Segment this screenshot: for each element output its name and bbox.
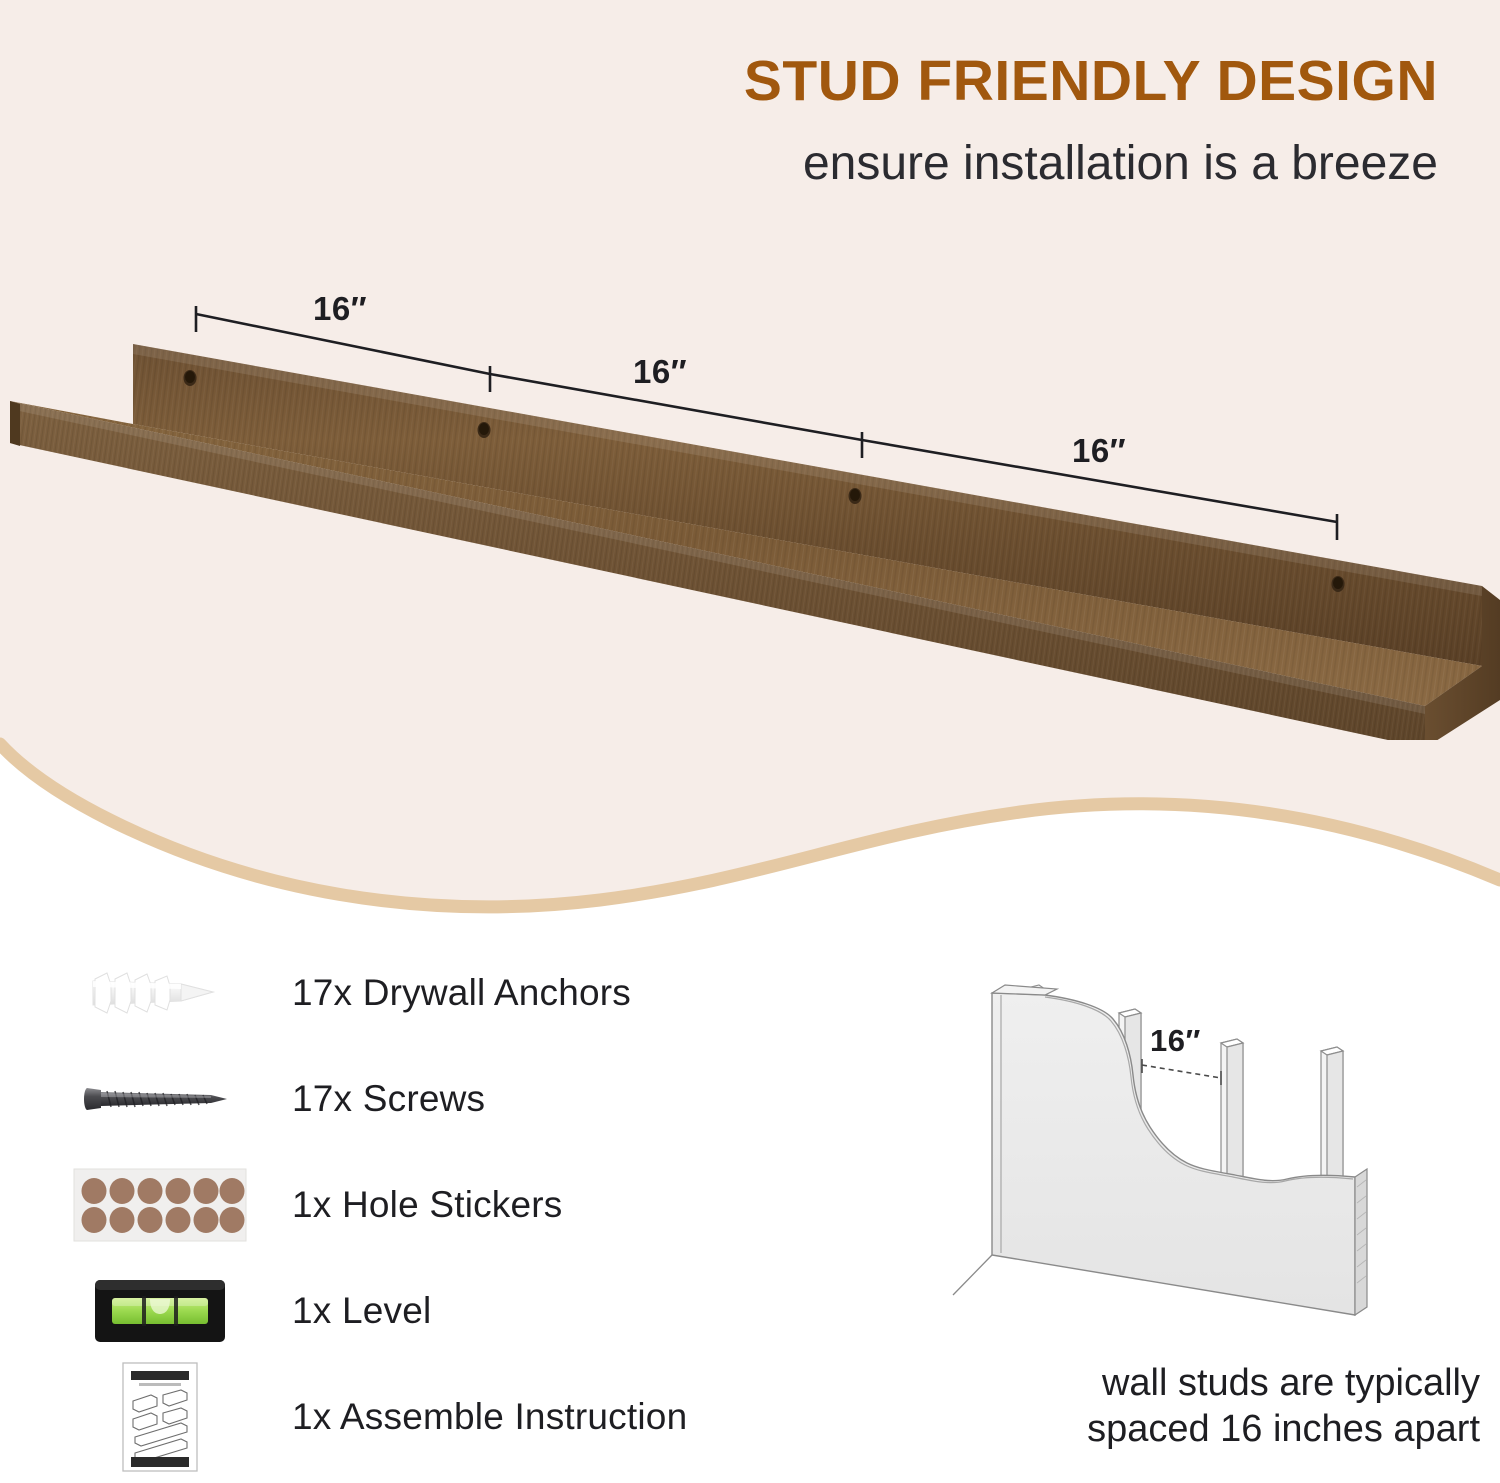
header-block: STUD FRIENDLY DESIGN ensure installation…	[0, 52, 1500, 191]
wall-stud	[1321, 1047, 1343, 1185]
wall-stud	[1221, 1039, 1243, 1181]
infographic-canvas: STUD FRIENDLY DESIGN ensure installation…	[0, 0, 1500, 1483]
stud-caption-line-1: wall studs are typically	[880, 1360, 1480, 1406]
list-item: 17x Screws	[60, 1046, 890, 1152]
level-icon	[60, 1261, 260, 1361]
list-item-label: 17x Drywall Anchors	[260, 972, 631, 1014]
parts-list: 17x Drywall Anchors	[60, 940, 890, 1470]
dimension-annotations	[0, 270, 1500, 570]
screw-icon	[60, 1049, 260, 1149]
dimension-line-2	[490, 374, 862, 440]
wall-stud-drawing	[935, 955, 1425, 1335]
list-item: 1x Assemble Instruction	[60, 1364, 890, 1470]
list-item: 1x Level	[60, 1258, 890, 1364]
instruction-manual-icon	[60, 1367, 260, 1467]
list-item: 17x Drywall Anchors	[60, 940, 890, 1046]
list-item-label: 1x Assemble Instruction	[260, 1396, 687, 1438]
wall-stud-diagram: 16″	[935, 955, 1425, 1335]
page-title: STUD FRIENDLY DESIGN	[0, 52, 1438, 112]
stud-spacing-dimension	[1142, 1059, 1221, 1085]
list-item: 1x Hole Stickers	[60, 1152, 890, 1258]
dimension-line-1	[196, 314, 490, 374]
list-item-label: 17x Screws	[260, 1078, 485, 1120]
stud-dimension-label: 16″	[1150, 1023, 1201, 1059]
list-item-label: 1x Hole Stickers	[260, 1184, 563, 1226]
stud-caption-line-2: spaced 16 inches apart	[880, 1406, 1480, 1452]
dimension-line-3	[862, 440, 1337, 522]
drywall-anchor-icon	[60, 943, 260, 1043]
stud-caption: wall studs are typically spaced 16 inche…	[880, 1360, 1480, 1453]
list-item-label: 1x Level	[260, 1290, 431, 1332]
page-subtitle: ensure installation is a breeze	[0, 138, 1438, 191]
hole-stickers-icon	[60, 1155, 260, 1255]
